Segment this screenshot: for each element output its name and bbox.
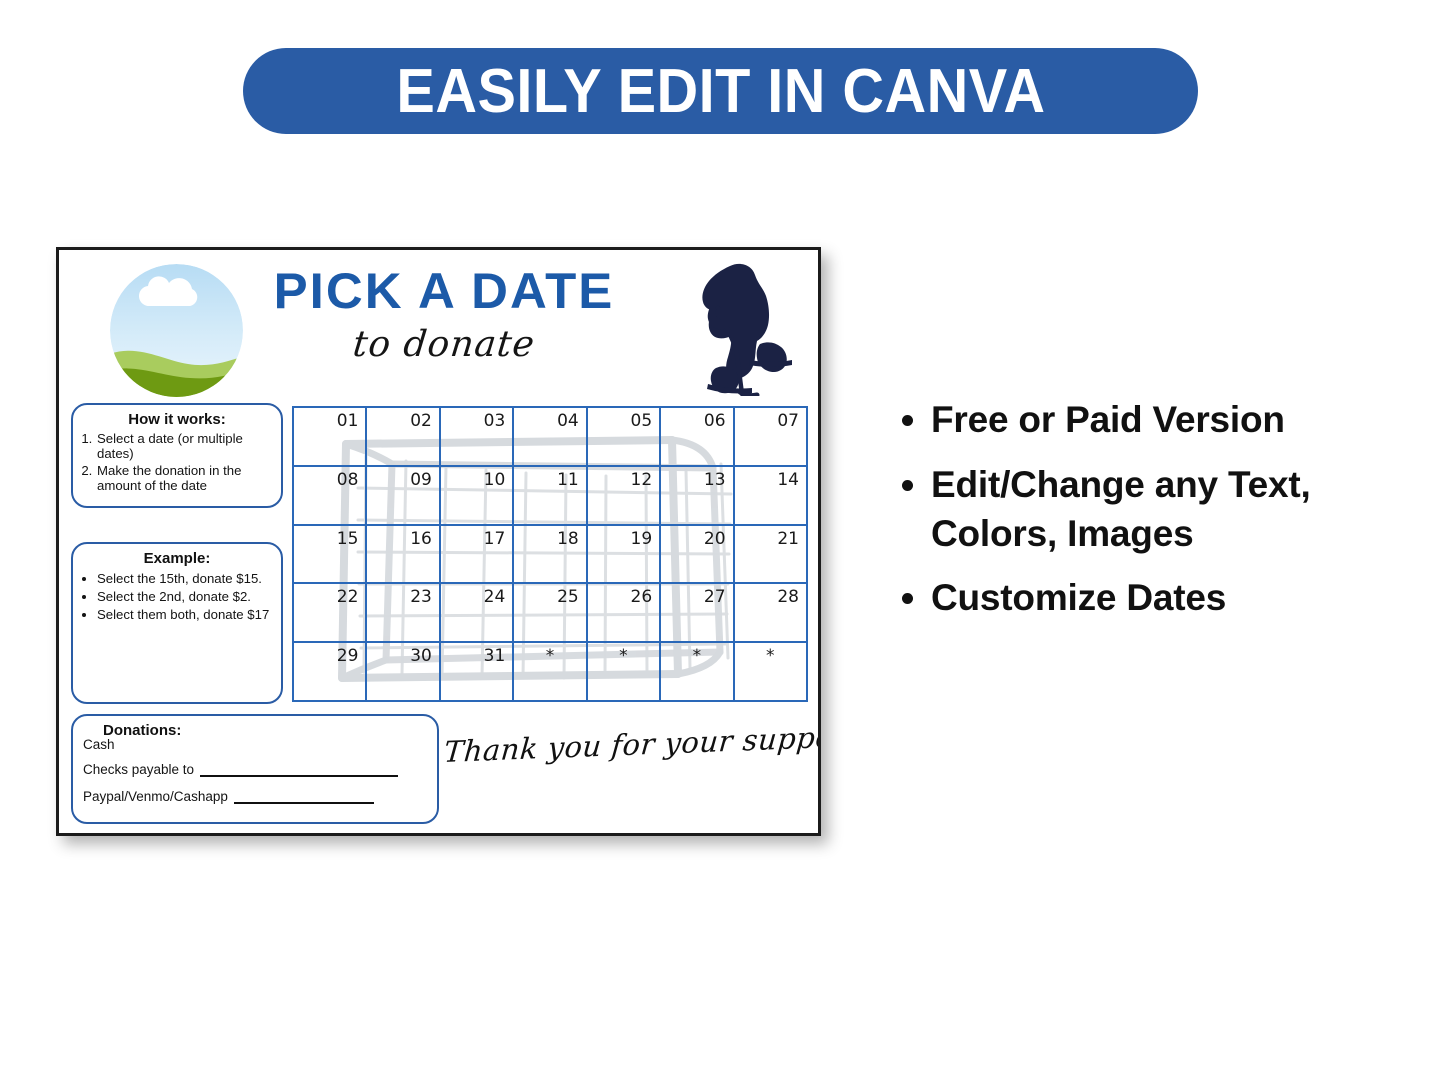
donations-checks-input[interactable]	[200, 763, 398, 777]
landscape-circle-icon	[110, 264, 243, 397]
calendar-cell-day[interactable]: 12	[588, 467, 661, 526]
example-item: Select the 15th, donate $15.	[97, 571, 273, 587]
calendar-cell-day[interactable]: 14	[735, 467, 808, 526]
date-calendar: 0102030405060708091011121314151617181920…	[292, 406, 808, 702]
flyer-card: PICK A DATE to donate How it works: S	[56, 247, 821, 836]
calendar-cell-day[interactable]: 26	[588, 584, 661, 643]
calendar-cell-day[interactable]: 27	[661, 584, 734, 643]
donations-digital-input[interactable]	[234, 790, 374, 804]
example-list: Select the 15th, donate $15. Select the …	[77, 571, 273, 623]
example-item: Select them both, donate $17	[97, 607, 273, 623]
calendar-grid: 0102030405060708091011121314151617181920…	[292, 406, 808, 702]
calendar-cell-day[interactable]: 21	[735, 526, 808, 585]
banner-label: EASILY EDIT IN CANVA	[396, 56, 1045, 127]
calendar-cell-day[interactable]: 16	[367, 526, 440, 585]
calendar-cell-day[interactable]: 22	[294, 584, 367, 643]
feature-item: Edit/Change any Text, Colors, Images	[931, 461, 1413, 559]
flyer-title-block: PICK A DATE to donate	[264, 265, 624, 365]
how-it-works-step: Make the donation in the amount of the d…	[96, 463, 273, 494]
donations-checks-row: Checks payable to	[83, 762, 437, 777]
calendar-cell-blank[interactable]: *	[588, 643, 661, 702]
calendar-cell-day[interactable]: 09	[367, 467, 440, 526]
calendar-cell-day[interactable]: 25	[514, 584, 587, 643]
donations-box: Donations: Cash Checks payable to Paypal…	[71, 714, 439, 824]
how-it-works-heading: How it works:	[73, 405, 281, 428]
calendar-cell-day[interactable]: 01	[294, 408, 367, 467]
calendar-cell-day[interactable]: 13	[661, 467, 734, 526]
donations-digital-label: Paypal/Venmo/Cashapp	[83, 789, 228, 804]
calendar-cell-day[interactable]: 20	[661, 526, 734, 585]
flyer-header: PICK A DATE to donate	[59, 250, 818, 398]
easily-edit-banner: EASILY EDIT IN CANVA	[243, 48, 1198, 134]
calendar-cell-day[interactable]: 30	[367, 643, 440, 702]
example-box: Example: Select the 15th, donate $15. Se…	[71, 542, 283, 704]
feature-item: Customize Dates	[931, 574, 1413, 623]
calendar-cell-day[interactable]: 17	[441, 526, 514, 585]
calendar-cell-blank[interactable]: *	[514, 643, 587, 702]
calendar-cell-day[interactable]: 10	[441, 467, 514, 526]
how-it-works-box: How it works: Select a date (or multiple…	[71, 403, 283, 508]
flyer-subtitle: to donate	[262, 324, 626, 365]
calendar-cell-day[interactable]: 23	[367, 584, 440, 643]
donations-cash-label: Cash	[83, 737, 115, 752]
calendar-cell-blank[interactable]: *	[735, 643, 808, 702]
calendar-cell-day[interactable]: 08	[294, 467, 367, 526]
donations-digital-row: Paypal/Venmo/Cashapp	[83, 789, 437, 804]
feature-list: Free or Paid Version Edit/Change any Tex…	[893, 396, 1413, 639]
calendar-cell-day[interactable]: 24	[441, 584, 514, 643]
donations-heading: Donations:	[73, 716, 437, 739]
how-it-works-list: Select a date (or multiple dates) Make t…	[79, 431, 273, 494]
calendar-cell-day[interactable]: 29	[294, 643, 367, 702]
calendar-cell-day[interactable]: 31	[441, 643, 514, 702]
calendar-cell-day[interactable]: 18	[514, 526, 587, 585]
calendar-cell-day[interactable]: 03	[441, 408, 514, 467]
feature-items: Free or Paid Version Edit/Change any Tex…	[893, 396, 1413, 623]
calendar-cell-day[interactable]: 06	[661, 408, 734, 467]
calendar-cell-day[interactable]: 19	[588, 526, 661, 585]
calendar-cell-day[interactable]: 04	[514, 408, 587, 467]
calendar-cell-day[interactable]: 05	[588, 408, 661, 467]
flyer-title: PICK A DATE	[260, 265, 627, 318]
how-it-works-step: Select a date (or multiple dates)	[96, 431, 273, 462]
donations-cash-row: Cash	[83, 737, 437, 752]
example-heading: Example:	[73, 544, 281, 567]
calendar-cell-day[interactable]: 15	[294, 526, 367, 585]
thank-you-message: Thank you for your support!	[443, 721, 806, 769]
calendar-cell-day[interactable]: 02	[367, 408, 440, 467]
calendar-cell-day[interactable]: 28	[735, 584, 808, 643]
feature-item: Free or Paid Version	[931, 396, 1413, 445]
calendar-cell-day[interactable]: 11	[514, 467, 587, 526]
calendar-cell-blank[interactable]: *	[661, 643, 734, 702]
donations-checks-label: Checks payable to	[83, 762, 194, 777]
example-item: Select the 2nd, donate $2.	[97, 589, 273, 605]
hockey-player-silhouette-icon	[674, 256, 804, 396]
calendar-cell-day[interactable]: 07	[735, 408, 808, 467]
